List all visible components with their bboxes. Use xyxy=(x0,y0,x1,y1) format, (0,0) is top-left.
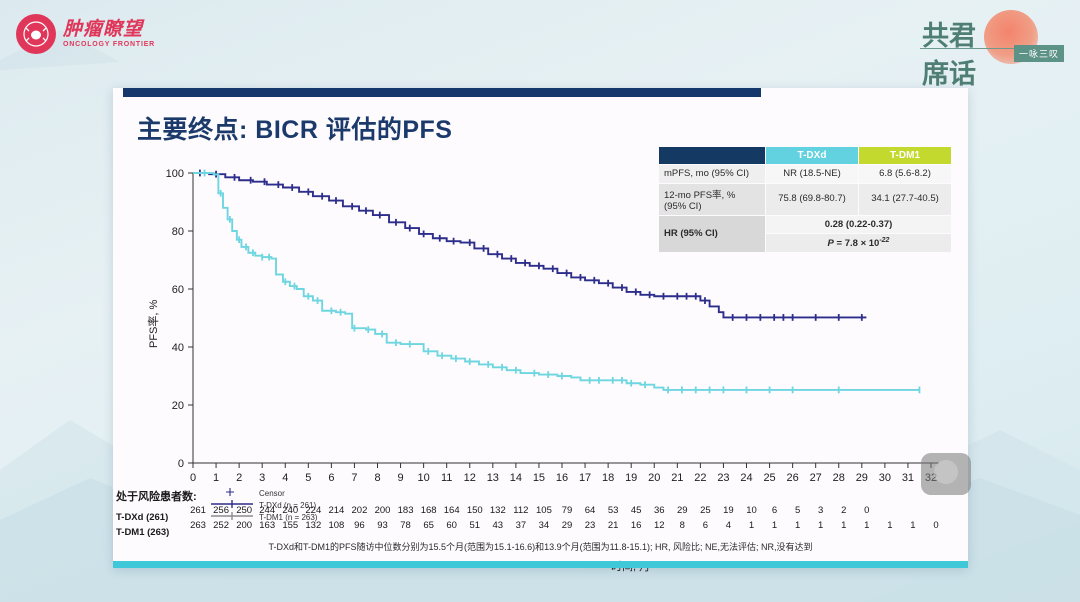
risk-cell: 34 xyxy=(539,520,550,531)
risk-cell: 60 xyxy=(446,520,457,531)
risk-cell: 256 xyxy=(213,505,229,516)
svg-text:15: 15 xyxy=(533,472,545,484)
svg-text:23: 23 xyxy=(717,472,729,484)
risk-cell: 6 xyxy=(772,505,777,516)
risk-cell: 1 xyxy=(841,520,846,531)
risk-cell: 29 xyxy=(677,505,688,516)
logo-chinese-name: 肿瘤瞭望 xyxy=(63,20,155,39)
risk-cell: 200 xyxy=(236,520,252,531)
risk-cell: 6 xyxy=(703,520,708,531)
risk-cell: 112 xyxy=(513,505,528,516)
svg-text:31: 31 xyxy=(902,472,914,484)
risk-cell: 224 xyxy=(305,505,321,516)
risk-cell: 4 xyxy=(726,520,731,531)
risk-cell: 79 xyxy=(562,505,573,516)
risk-values-tdxd: 2612562502442402242142022001831681641501… xyxy=(194,505,954,520)
risk-cell: 244 xyxy=(259,505,275,516)
svg-text:1: 1 xyxy=(213,472,219,484)
svg-text:28: 28 xyxy=(833,472,845,484)
risk-cell: 0 xyxy=(864,505,869,516)
risk-cell: 168 xyxy=(421,505,437,516)
svg-text:21: 21 xyxy=(671,472,683,484)
svg-text:26: 26 xyxy=(787,472,799,484)
svg-text:2: 2 xyxy=(236,472,242,484)
svg-text:27: 27 xyxy=(810,472,822,484)
svg-text:9: 9 xyxy=(398,472,404,484)
watermark-line2: 席话 xyxy=(922,52,976,91)
svg-text:29: 29 xyxy=(856,472,868,484)
column-header-tdxd: T-DXd xyxy=(766,147,859,165)
risk-cell: 25 xyxy=(700,505,711,516)
svg-text:12: 12 xyxy=(464,472,476,484)
risk-cell: 36 xyxy=(654,505,665,516)
risk-cell: 132 xyxy=(490,505,506,516)
risk-cell: 78 xyxy=(400,520,411,531)
risk-cell: 45 xyxy=(631,505,642,516)
watermark-divider xyxy=(920,48,1016,49)
svg-text:4: 4 xyxy=(282,472,288,484)
risk-cell: 64 xyxy=(585,505,596,516)
watermark: 共君 席话 一咏三叹 xyxy=(916,8,1066,88)
risk-cell: 37 xyxy=(516,520,527,531)
risk-row-label-tdm1: T-DM1 (263) xyxy=(116,527,194,538)
presentation-slide: 主要终点: BICR 评估的PFS T-DXd T-DM1 mPFS, mo (… xyxy=(113,88,968,568)
risk-cell: 252 xyxy=(213,520,229,531)
risk-cell: 5 xyxy=(795,505,800,516)
svg-text:17: 17 xyxy=(579,472,591,484)
risk-cell: 163 xyxy=(259,520,275,531)
risk-cell: 19 xyxy=(723,505,734,516)
risk-cell: 1 xyxy=(910,520,915,531)
svg-text:8: 8 xyxy=(374,472,380,484)
svg-text:40: 40 xyxy=(172,342,184,354)
svg-text:10: 10 xyxy=(418,472,430,484)
risk-cell: 1 xyxy=(772,520,777,531)
risk-cell: 155 xyxy=(282,520,298,531)
risk-cell: 23 xyxy=(585,520,596,531)
svg-text:18: 18 xyxy=(602,472,614,484)
svg-text:3: 3 xyxy=(259,472,265,484)
column-header-tdm1: T-DM1 xyxy=(859,147,952,165)
risk-cell: 43 xyxy=(493,520,504,531)
risk-cell: 10 xyxy=(746,505,757,516)
svg-text:19: 19 xyxy=(625,472,637,484)
risk-values-tdm1: 2632522001631551321089693786560514337342… xyxy=(194,520,954,535)
svg-text:100: 100 xyxy=(166,168,184,180)
risk-cell: 250 xyxy=(236,505,252,516)
risk-row-label-tdxd: T-DXd (261) xyxy=(116,512,194,523)
svg-text:20: 20 xyxy=(172,400,184,412)
svg-text:30: 30 xyxy=(879,472,891,484)
video-control-overlay[interactable] xyxy=(921,453,971,495)
svg-text:0: 0 xyxy=(178,458,184,470)
risk-cell: 108 xyxy=(328,520,344,531)
svg-text:22: 22 xyxy=(694,472,706,484)
brand-logo: 肿瘤瞭望 ONCOLOGY FRONTIER xyxy=(16,14,155,54)
risk-cell: 96 xyxy=(354,520,365,531)
risk-cell: 240 xyxy=(282,505,298,516)
risk-cell: 65 xyxy=(423,520,434,531)
risk-cell: 150 xyxy=(467,505,483,516)
risk-cell: 164 xyxy=(444,505,460,516)
risk-cell: 261 xyxy=(190,505,206,516)
kaplan-meier-chart: PFS率, % 时间, 月 02040608010001234567891011… xyxy=(131,163,951,463)
risk-cell: 263 xyxy=(190,520,206,531)
svg-text:11: 11 xyxy=(441,472,452,484)
numbers-at-risk-table: 处于风险患者数: T-DXd (261) 2612562502442402242… xyxy=(116,488,954,535)
svg-text:25: 25 xyxy=(763,472,775,484)
svg-text:13: 13 xyxy=(487,472,499,484)
risk-cell: 3 xyxy=(818,505,823,516)
table-header-row: T-DXd T-DM1 xyxy=(659,147,952,165)
svg-text:6: 6 xyxy=(328,472,334,484)
page-title: 主要终点: BICR 评估的PFS xyxy=(137,110,452,146)
risk-cell: 16 xyxy=(631,520,642,531)
risk-cell: 214 xyxy=(328,505,344,516)
svg-text:24: 24 xyxy=(740,472,752,484)
crab-logo-icon xyxy=(16,14,56,54)
slide-footnote: T-DXd和T-DM1的PFS随访中位数分别为15.5个月(范围为15.1-16… xyxy=(113,540,968,553)
table-corner-cell xyxy=(659,147,766,165)
risk-cell: 183 xyxy=(398,505,414,516)
svg-text:80: 80 xyxy=(172,226,184,238)
risk-cell: 1 xyxy=(749,520,754,531)
risk-cell: 93 xyxy=(377,520,388,531)
svg-text:14: 14 xyxy=(510,472,522,484)
risk-cell: 8 xyxy=(680,520,685,531)
risk-cell: 53 xyxy=(608,505,619,516)
svg-text:0: 0 xyxy=(190,472,196,484)
risk-cell: 29 xyxy=(562,520,573,531)
risk-cell: 1 xyxy=(864,520,869,531)
risk-cell: 202 xyxy=(352,505,368,516)
risk-cell: 12 xyxy=(654,520,665,531)
risk-cell: 2 xyxy=(841,505,846,516)
risk-cell: 1 xyxy=(818,520,823,531)
y-axis-label: PFS率, % xyxy=(145,300,161,348)
svg-text:20: 20 xyxy=(648,472,660,484)
risk-cell: 1 xyxy=(795,520,800,531)
risk-cell: 21 xyxy=(608,520,619,531)
svg-text:7: 7 xyxy=(351,472,357,484)
slide-bottom-accent-bar xyxy=(113,561,968,568)
risk-cell: 0 xyxy=(933,520,938,531)
svg-text:16: 16 xyxy=(556,472,568,484)
risk-row-tdm1: T-DM1 (263) 2632522001631551321089693786… xyxy=(116,520,954,535)
risk-cell: 1 xyxy=(887,520,892,531)
risk-row-tdxd: T-DXd (261) 2612562502442402242142022001… xyxy=(116,505,954,520)
slide-top-accent-bar xyxy=(123,88,761,97)
risk-table-title: 处于风险患者数: xyxy=(116,488,954,504)
risk-cell: 105 xyxy=(536,505,552,516)
watermark-badge: 一咏三叹 xyxy=(1014,45,1064,62)
risk-cell: 200 xyxy=(375,505,391,516)
logo-english-name: ONCOLOGY FRONTIER xyxy=(63,41,155,48)
svg-text:5: 5 xyxy=(305,472,311,484)
risk-cell: 132 xyxy=(305,520,321,531)
risk-cell: 51 xyxy=(469,520,480,531)
svg-text:60: 60 xyxy=(172,284,184,296)
